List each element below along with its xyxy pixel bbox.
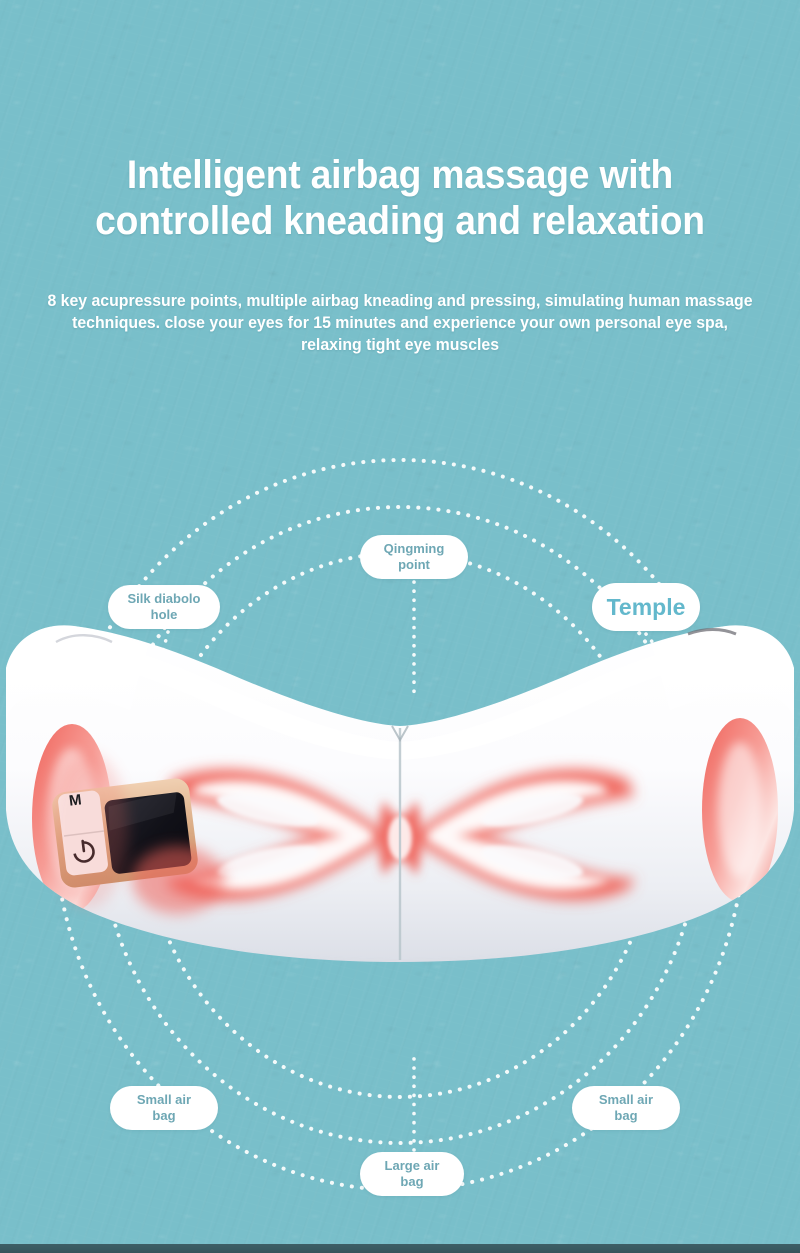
callout-label-line-2: bag — [152, 1108, 175, 1123]
callout-small-air-bag-right[interactable]: Small air bag — [572, 1086, 680, 1130]
bottom-edge-strip — [0, 1244, 800, 1253]
callout-large-air-bag[interactable]: Large air bag — [360, 1152, 464, 1196]
mode-button-label[interactable]: M — [68, 792, 82, 808]
subcopy-line-1: 8 key acupressure points, multiple airba… — [47, 292, 624, 310]
callout-label: Small air bag — [137, 1092, 191, 1124]
callout-label-line-1: Large air — [385, 1158, 440, 1173]
eye-massager-device — [0, 600, 800, 980]
callout-label: Large air bag — [385, 1158, 440, 1190]
temple-pad-right — [702, 718, 778, 902]
callout-label: Temple — [607, 594, 686, 620]
callout-qingming-point[interactable]: Qingming point — [360, 535, 468, 579]
callout-label-line-2: bag — [614, 1108, 637, 1123]
page-subcopy: 8 key acupressure points, multiple airba… — [45, 290, 755, 356]
callout-label-line-2: bag — [400, 1174, 423, 1189]
callout-small-air-bag-left[interactable]: Small air bag — [110, 1086, 218, 1130]
callout-label-line-1: Small air — [599, 1092, 653, 1107]
page-headline: Intelligent airbag massage with controll… — [28, 152, 772, 244]
callout-label-line-1: Silk diabolo — [128, 591, 201, 606]
callout-label-line-1: Qingming — [384, 541, 445, 556]
product-infographic-page: Intelligent airbag massage with controll… — [0, 0, 800, 1253]
headline-line-2: controlled kneading and relaxation — [58, 198, 742, 244]
callout-silk-diabolo-hole[interactable]: Silk diabolo hole — [108, 585, 220, 629]
headline-line-1: Intelligent airbag massage with — [58, 152, 742, 198]
callout-label: Silk diabolo hole — [128, 591, 201, 623]
callout-temple[interactable]: Temple — [592, 583, 700, 631]
callout-label: Qingming point — [384, 541, 445, 573]
callout-label: Small air bag — [599, 1092, 653, 1124]
callout-label-line-1: Small air — [137, 1092, 191, 1107]
callout-label-line-2: point — [398, 557, 430, 572]
callout-label-line-2: hole — [151, 607, 178, 622]
